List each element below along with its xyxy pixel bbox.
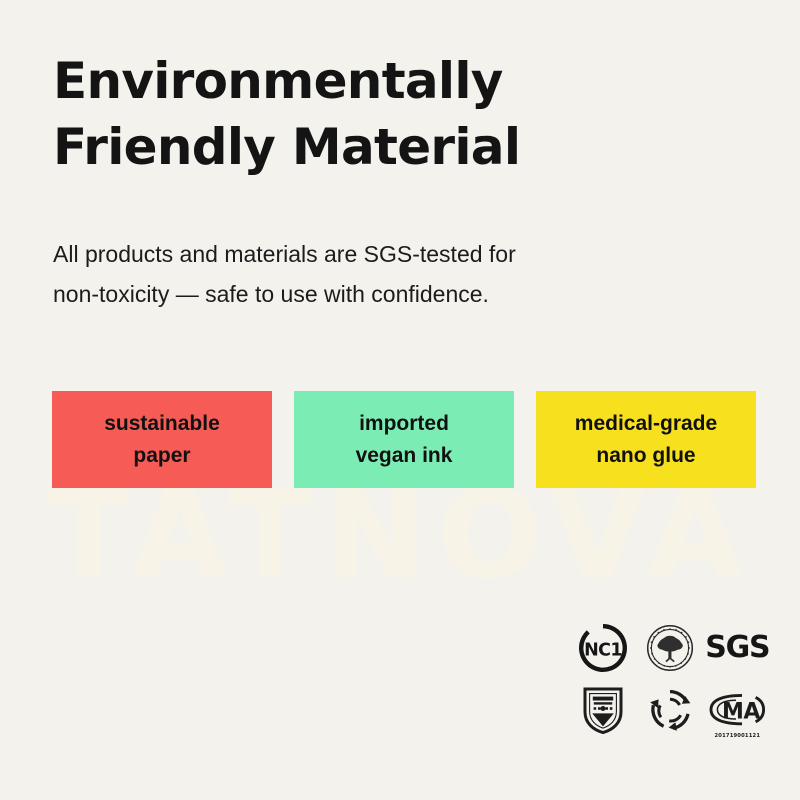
forest-seal-icon [640,621,700,675]
shield-icon [573,683,633,737]
svg-text:MA: MA [722,700,760,725]
material-badge-label-line-1: medical-grade [575,408,717,440]
poster-canvas: TATNOVA Environmentally Friendly Materia… [0,0,800,800]
cma-icon: MA 201719001121 [707,683,767,737]
material-badge-label-line-2: paper [133,440,190,472]
sgs-label: SGS [705,633,769,663]
material-badge-sustainable-paper: sustainable paper [52,391,272,488]
page-subtitle-line-2: non-toxicity — safe to use with confiden… [53,275,673,315]
material-badge-label-line-2: nano glue [596,440,695,472]
page-subtitle-line-1: All products and materials are SGS-teste… [53,235,673,275]
material-badge-group: sustainable paper imported vegan ink med… [52,391,756,488]
page-title: Environmentally Friendly Material [53,48,693,180]
cma-number-label: 201719001121 [707,733,767,739]
page-subtitle: All products and materials are SGS-teste… [53,235,673,314]
material-badge-label-line-1: sustainable [104,408,220,440]
certification-logo-group: NC1 [572,620,768,738]
svg-text:NC1: NC1 [584,640,622,660]
material-badge-vegan-ink: imported vegan ink [294,391,514,488]
material-badge-nano-glue: medical-grade nano glue [536,391,756,488]
sgs-icon: SGS [707,621,767,675]
page-title-line-2: Friendly Material [53,114,693,180]
recycle-icon [640,683,700,737]
material-badge-label-line-2: vegan ink [356,440,453,472]
page-title-line-1: Environmentally [53,48,693,114]
nc1-icon: NC1 [573,621,633,675]
brand-watermark: TATNOVA [0,474,800,597]
material-badge-label-line-1: imported [359,408,449,440]
